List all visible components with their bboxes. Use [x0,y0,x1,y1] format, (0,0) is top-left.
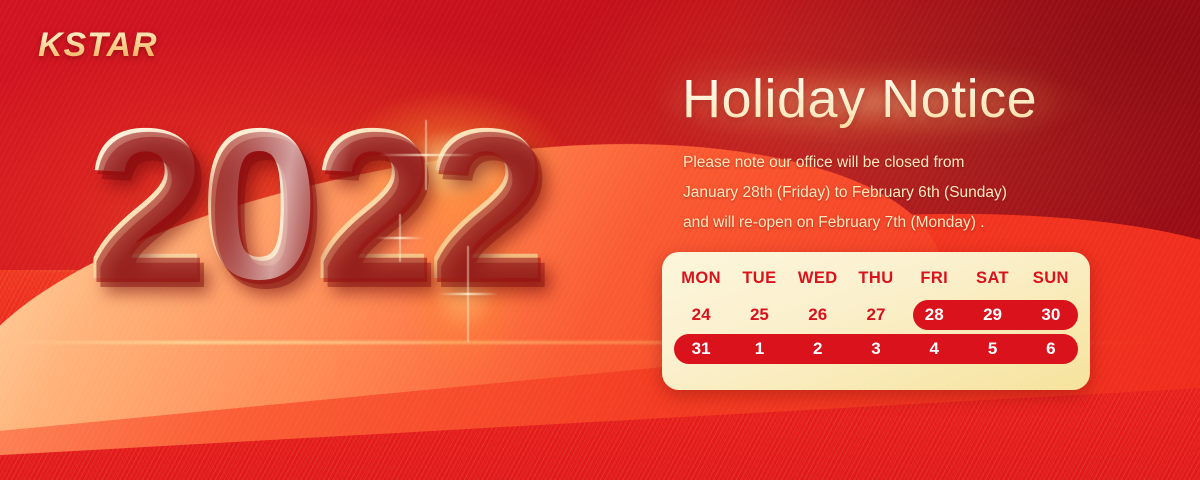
calendar-day-header: TUE [730,269,788,288]
calendar-week-row: 24 25 26 27 28 29 30 [672,298,1080,332]
calendar-date-cell-closed: 28 [905,305,963,325]
calendar-day-header: SUN [1022,269,1080,288]
calendar-date-cell: 26 [789,305,847,325]
holiday-calendar-card: MON TUE WED THU FRI SAT SUN 24 25 26 27 … [662,252,1090,390]
calendar-date-cell-closed: 31 [672,339,730,359]
calendar-day-header: THU [847,269,905,288]
calendar-date-cell-closed: 1 [730,339,788,359]
page-title: Holiday Notice [682,68,1037,130]
calendar-date-cell: 25 [730,305,788,325]
calendar-date-cell-closed: 30 [1022,305,1080,325]
calendar-date-cell-closed: 3 [847,339,905,359]
notice-line: and will re-open on February 7th (Monday… [683,208,1103,238]
year-artwork: 2022 2022 [86,96,586,326]
calendar-day-header: MON [672,269,730,288]
year-text: 2022 [86,96,540,311]
calendar-week-row: 31 1 2 3 4 5 6 [672,332,1080,366]
calendar-date-cell: 24 [672,305,730,325]
kstar-logo: KSTAR [38,26,158,65]
calendar-date-cell-closed: 6 [1022,339,1080,359]
calendar-day-header: SAT [963,269,1021,288]
calendar-date-cell-closed: 29 [963,305,1021,325]
calendar-date-cell-closed: 4 [905,339,963,359]
calendar-date-cell-closed: 2 [789,339,847,359]
calendar-header-row: MON TUE WED THU FRI SAT SUN [672,258,1080,298]
holiday-notice-banner: KSTAR 2022 2022 Holiday Notice Please no… [0,0,1200,480]
notice-body-text: Please note our office will be closed fr… [683,148,1103,238]
calendar-day-header: FRI [905,269,963,288]
notice-line: Please note our office will be closed fr… [683,148,1103,178]
notice-line: January 28th (Friday) to February 6th (S… [683,178,1103,208]
calendar-date-cell-closed: 5 [963,339,1021,359]
calendar-date-cell: 27 [847,305,905,325]
calendar-day-header: WED [789,269,847,288]
